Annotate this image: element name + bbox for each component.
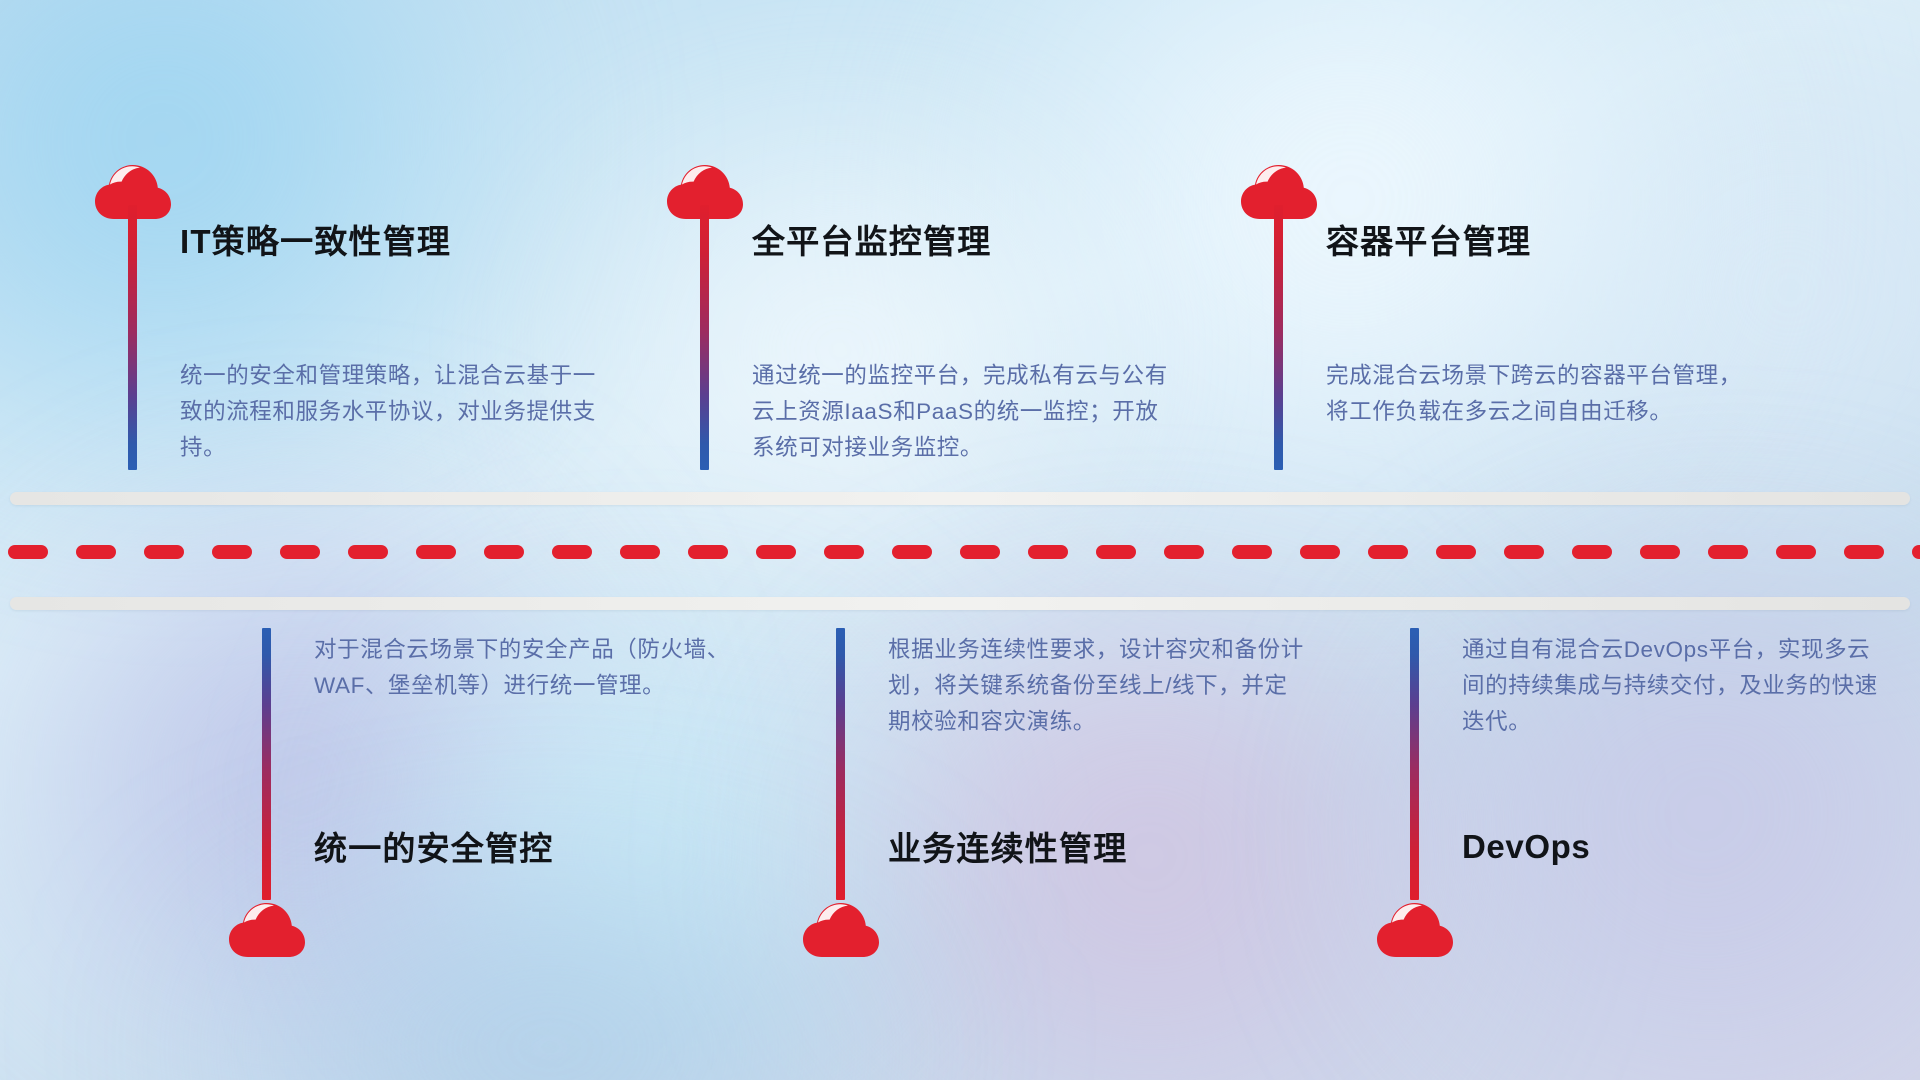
road-dash xyxy=(552,545,592,559)
capability-title: 统一的安全管控 xyxy=(314,832,553,865)
road-dash xyxy=(892,545,932,559)
road-dash xyxy=(688,545,728,559)
road-dash xyxy=(416,545,456,559)
road-dash xyxy=(620,545,660,559)
connector-stem xyxy=(700,205,709,470)
road-dash xyxy=(76,545,116,559)
road-dash xyxy=(1368,545,1408,559)
road-dash xyxy=(212,545,252,559)
road-dash xyxy=(1912,545,1920,559)
road-dash xyxy=(960,545,1000,559)
road-dash xyxy=(1708,545,1748,559)
cloud-icon xyxy=(228,898,306,960)
rail-line xyxy=(10,492,1910,505)
road-dash xyxy=(1096,545,1136,559)
road-dash xyxy=(280,545,320,559)
cloud-icon xyxy=(1376,898,1454,960)
capability-title: 容器平台管理 xyxy=(1326,225,1531,258)
road-dash xyxy=(1572,545,1612,559)
connector-stem xyxy=(836,628,845,900)
capability-title: 全平台监控管理 xyxy=(752,225,991,258)
road-dash xyxy=(144,545,184,559)
road-dash xyxy=(1232,545,1272,559)
road-rail-bottom xyxy=(0,597,1920,610)
capability-title: DevOps xyxy=(1462,830,1590,863)
road-dash xyxy=(1844,545,1884,559)
road-dash xyxy=(1028,545,1068,559)
capability-title: IT策略一致性管理 xyxy=(180,225,451,258)
rail-line xyxy=(10,597,1910,610)
connector-stem xyxy=(1274,205,1283,470)
connector-stem xyxy=(128,205,137,470)
road-dash xyxy=(348,545,388,559)
road-rail-top xyxy=(0,492,1920,505)
road-dash xyxy=(1300,545,1340,559)
capability-description: 完成混合云场景下跨云的容器平台管理，将工作负载在多云之间自由迁移。 xyxy=(1326,358,1746,430)
capability-description: 对于混合云场景下的安全产品（防火墙、WAF、堡垒机等）进行统一管理。 xyxy=(314,632,734,704)
road-dash xyxy=(1504,545,1544,559)
road-dash xyxy=(1776,545,1816,559)
connector-stem xyxy=(262,628,271,900)
road-dash xyxy=(824,545,864,559)
capability-description: 通过自有混合云DevOps平台，实现多云间的持续集成与持续交付，及业务的快速迭代… xyxy=(1462,632,1882,740)
capability-description: 统一的安全和管理策略，让混合云基于一致的流程和服务水平协议，对业务提供支持。 xyxy=(180,358,600,466)
capability-description: 根据业务连续性要求，设计容灾和备份计划，将关键系统备份至线上/线下，并定期校验和… xyxy=(888,632,1308,740)
connector-stem xyxy=(1410,628,1419,900)
road-dash xyxy=(756,545,796,559)
road-center-dashed-line xyxy=(8,545,1920,559)
road-dash xyxy=(8,545,48,559)
capability-title: 业务连续性管理 xyxy=(888,832,1127,865)
road-dash xyxy=(484,545,524,559)
road-dash xyxy=(1436,545,1476,559)
cloud-icon xyxy=(802,898,880,960)
infographic-canvas: IT策略一致性管理 统一的安全和管理策略，让混合云基于一致的流程和服务水平协议，… xyxy=(0,0,1920,1080)
road-dash xyxy=(1164,545,1204,559)
capability-description: 通过统一的监控平台，完成私有云与公有云上资源IaaS和PaaS的统一监控；开放系… xyxy=(752,358,1172,466)
road-dash xyxy=(1640,545,1680,559)
